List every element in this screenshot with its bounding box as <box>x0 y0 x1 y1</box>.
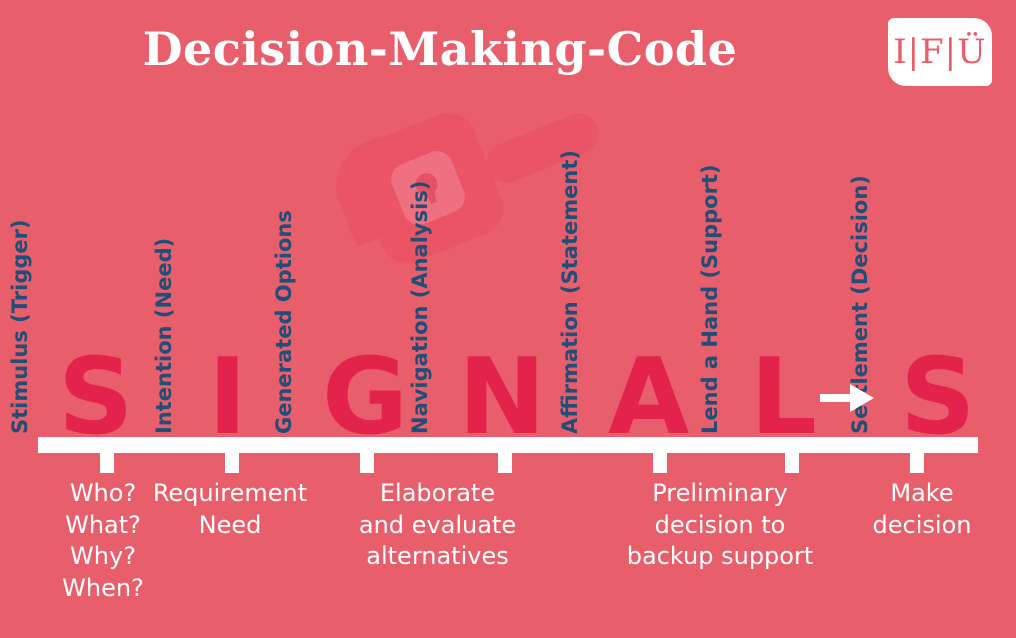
step-label-intention: Intention (Need) <box>152 238 176 434</box>
caption-line: Why? <box>18 541 188 573</box>
page-title: Decision-Making-Code <box>0 22 880 76</box>
timeline-tick-6 <box>785 453 799 473</box>
caption-line: Need <box>140 510 320 542</box>
caption-line: backup support <box>610 541 830 573</box>
infographic-poster: Decision-Making-Code I|F|Ü Stimulus (Tri… <box>0 0 1016 638</box>
right-arrow-icon <box>820 381 876 415</box>
caption-line: alternatives <box>330 541 545 573</box>
timeline-tick-7 <box>910 453 924 473</box>
step-letter-a: A <box>608 345 689 450</box>
caption-line: When? <box>18 573 188 605</box>
caption-line: Elaborate <box>330 478 545 510</box>
timeline-tick-5 <box>653 453 667 473</box>
timeline-tick-2 <box>225 453 239 473</box>
step-letter-i: I <box>208 345 247 450</box>
caption-affirmation: Preliminary decision to backup support <box>610 478 830 573</box>
step-label-stimulus: Stimulus (Trigger) <box>8 219 32 434</box>
step-label-navigation: Navigation (Analysis) <box>408 181 432 434</box>
ifu-logo-text: I|F|Ü <box>893 35 987 69</box>
step-label-affirmation: Affirmation (Statement) <box>558 150 582 434</box>
caption-generated-options: Elaborate and evaluate alternatives <box>330 478 545 573</box>
caption-intention: Requirement Need <box>140 478 320 541</box>
caption-line: Make <box>852 478 992 510</box>
caption-line: and evaluate <box>330 510 545 542</box>
caption-line: decision to <box>610 510 830 542</box>
step-label-generated-options: Generated Options <box>272 210 296 434</box>
step-letter-s1: S <box>58 345 134 450</box>
timeline-tick-3 <box>360 453 374 473</box>
step-letter-s2: S <box>900 345 976 450</box>
step-label-lend-a-hand: Lend a Hand (Support) <box>698 164 722 434</box>
ifu-logo: I|F|Ü <box>888 18 992 86</box>
timeline-tick-4 <box>498 453 512 473</box>
step-letter-l: L <box>750 345 817 450</box>
step-letter-g: G <box>322 345 408 450</box>
timeline-tick-1 <box>100 453 114 473</box>
caption-line: Requirement <box>140 478 320 510</box>
caption-settlement: Make decision <box>852 478 992 541</box>
step-letter-n: N <box>458 345 546 450</box>
timeline-axis <box>38 437 978 453</box>
caption-line: Preliminary <box>610 478 830 510</box>
caption-line: decision <box>852 510 992 542</box>
